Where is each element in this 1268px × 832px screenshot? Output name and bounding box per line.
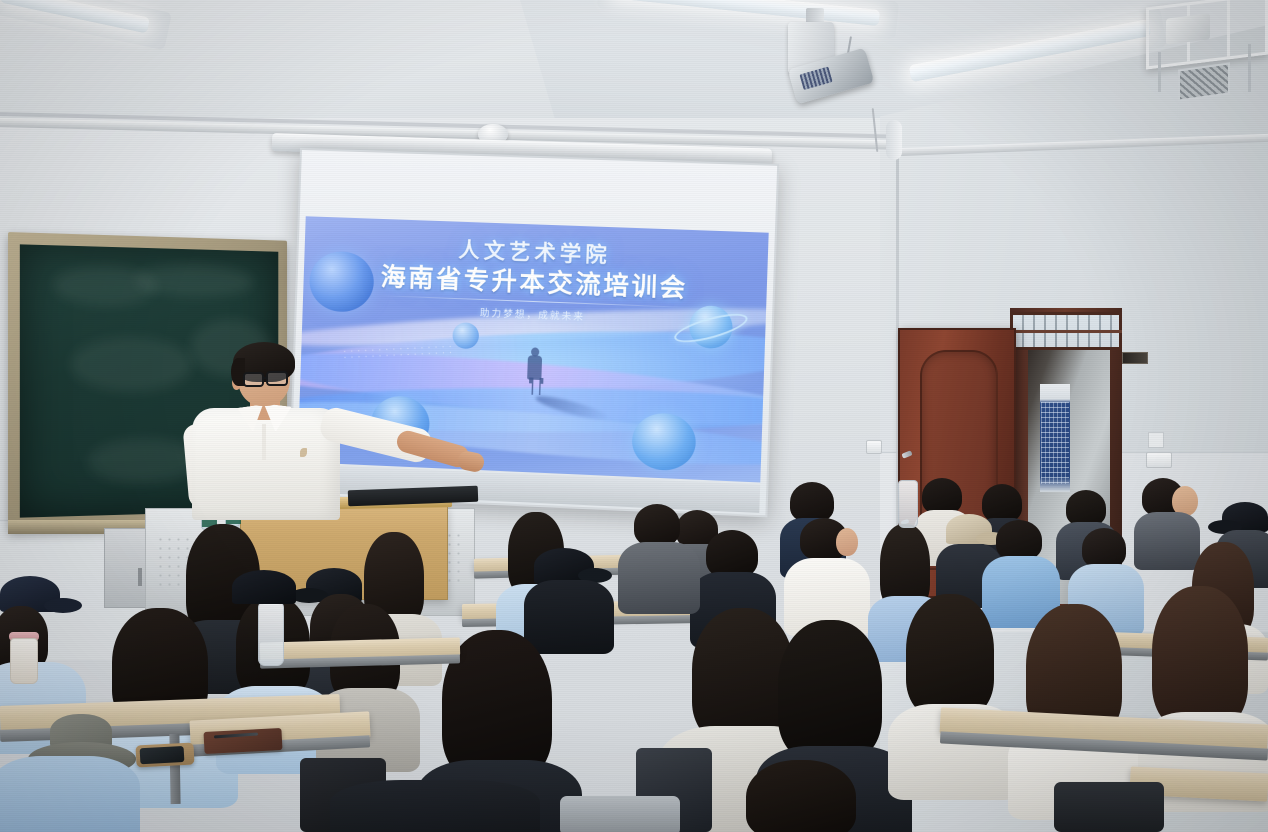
student-hair (1082, 528, 1126, 568)
water-bottle (258, 602, 284, 666)
student-hair (982, 484, 1022, 522)
smartphone[interactable] (135, 742, 194, 767)
cabinet-handle[interactable] (138, 568, 142, 586)
corridor-notice-board-grid (1041, 402, 1069, 484)
projector-vent-grille (799, 66, 832, 90)
student-hair (790, 482, 834, 522)
classroom-chair (1054, 782, 1164, 832)
corridor-sign (1122, 352, 1148, 364)
student-hair (996, 520, 1042, 560)
student-torso (524, 580, 614, 654)
student-hair (922, 478, 962, 514)
cage-support-rod (1158, 52, 1161, 92)
thermos-tumbler (10, 638, 38, 684)
classroom-photo-scene: 人文艺术学院 海南省专升本交流培训会 助力梦想，成就未来 (0, 0, 1268, 832)
cage-support-rod (1248, 44, 1251, 92)
student-head (836, 528, 858, 556)
wall-outlet[interactable] (866, 440, 882, 454)
student-hair-long (778, 620, 882, 760)
student-torso (330, 780, 540, 832)
cage-bar (1227, 0, 1230, 56)
baseball-cap (232, 570, 296, 604)
student-hair-long (1152, 586, 1248, 728)
person-silhouette-graphic (526, 347, 544, 394)
chalk-smudge (88, 438, 200, 485)
silhouette-body (527, 355, 542, 380)
student-hair-long (906, 594, 994, 716)
wall-motion-sensor (886, 120, 902, 160)
classroom-chair (560, 796, 680, 832)
wall-outlet[interactable] (1146, 452, 1172, 468)
presenter-torso (192, 408, 340, 520)
student-hair (634, 504, 680, 546)
transom-divider-bar (1010, 330, 1122, 333)
projection-screen: 人文艺术学院 海南省专升本交流培训会 助力梦想，成就未来 (288, 148, 779, 517)
cap-brim (44, 598, 82, 613)
glasses-lens (243, 372, 264, 387)
water-bottle (898, 480, 918, 528)
polo-placket (262, 424, 266, 460)
student-torso (1134, 512, 1200, 570)
student-hair (1066, 490, 1106, 526)
wall-switch[interactable] (1148, 432, 1164, 448)
silhouette-leg (529, 377, 540, 395)
student-hair (706, 530, 758, 578)
phone-screen (140, 746, 185, 764)
glasses-lens (266, 371, 288, 386)
student-torso (618, 542, 700, 614)
chalk-smudge (70, 337, 192, 392)
notebook (203, 728, 282, 754)
student-hair-long (746, 760, 856, 832)
caged-projector (1166, 13, 1210, 44)
shirt-logo (300, 448, 307, 457)
student-torso (0, 756, 140, 832)
glasses-bridge (263, 377, 268, 379)
